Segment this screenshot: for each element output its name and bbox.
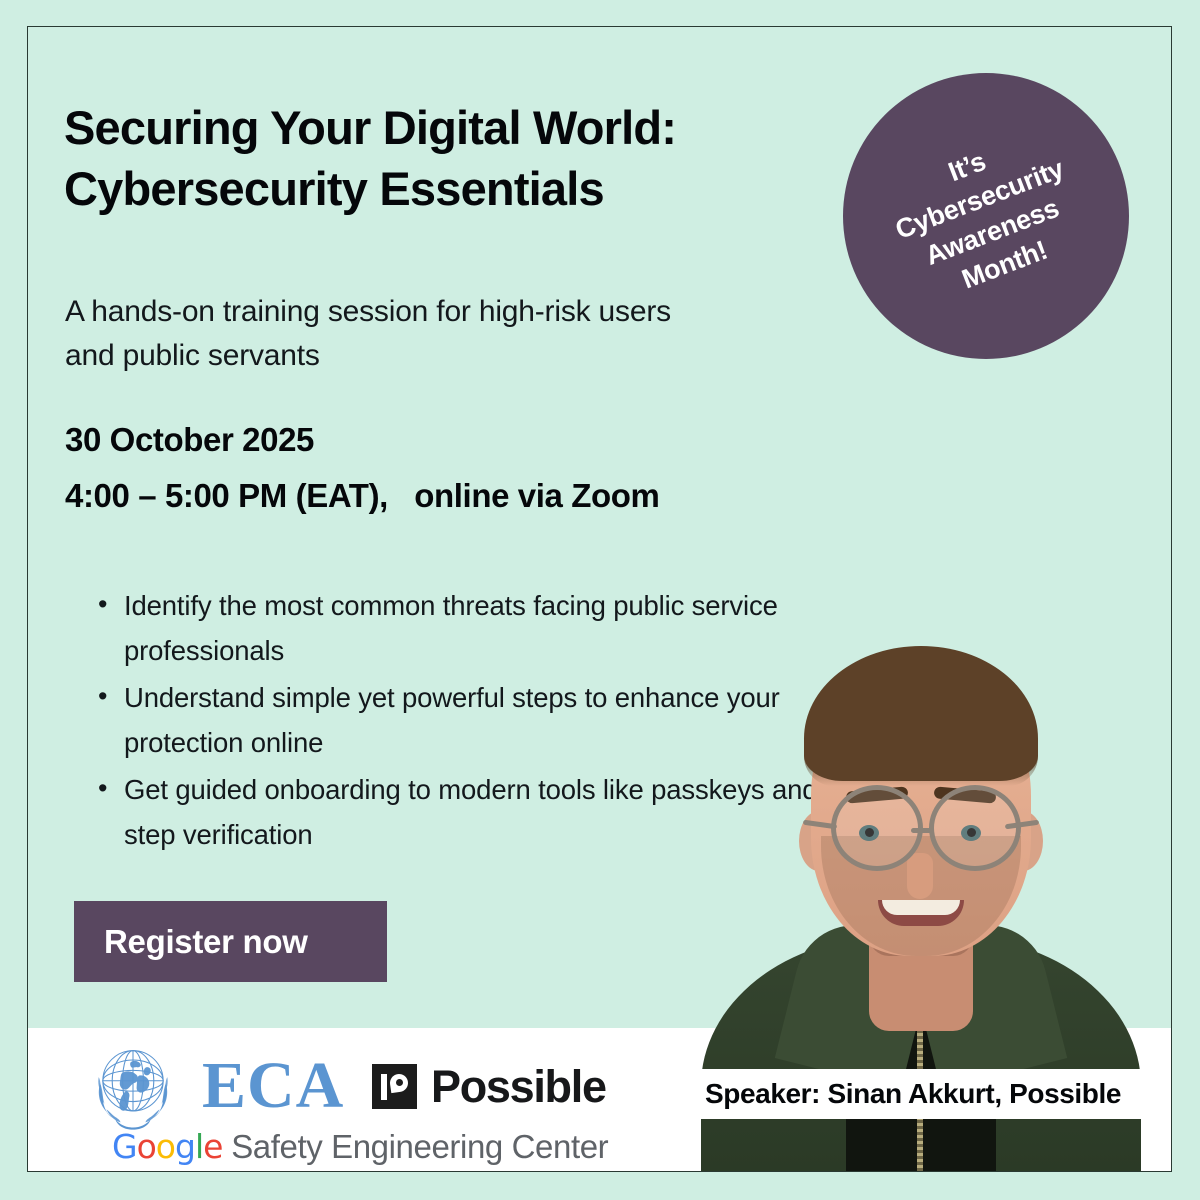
gsec-wordmark: Google Safety Engineering Center [112, 1130, 608, 1163]
headline-line-2: Cybersecurity Essentials [64, 159, 824, 219]
eyeglass-temple-right-shape [1005, 820, 1039, 830]
page-title: Securing Your Digital World: Cybersecuri… [64, 98, 824, 218]
google-g1: G [112, 1127, 137, 1166]
speaker-caption: Speaker: Sinan Akkurt, Possible [677, 1069, 1172, 1119]
headline-line-1: Securing Your Digital World: [64, 98, 824, 158]
mouth-shape [878, 900, 964, 926]
possible-mark-icon [372, 1064, 417, 1109]
poster-frame: Securing Your Digital World: Cybersecuri… [27, 26, 1172, 1172]
list-item: Get guided onboarding to modern tools li… [90, 768, 850, 857]
eca-wordmark: ECA [202, 1053, 344, 1119]
google-l: l [195, 1127, 203, 1166]
possible-logo: Possible [372, 1064, 606, 1109]
google-o1: o [137, 1127, 156, 1166]
google-g2: g [175, 1127, 195, 1166]
neck-shadow-shape [869, 901, 973, 956]
subtitle-line-1: A hands-on training session for high-ris… [65, 290, 835, 334]
register-button[interactable]: Register now [74, 901, 387, 982]
status-badge: It’s Cybersecurity Awareness Month! [843, 73, 1129, 359]
possible-mark-bar [381, 1074, 387, 1100]
subtitle-line-2: and public servants [65, 334, 835, 378]
learning-objectives-list: Identify the most common threats facing … [90, 584, 850, 860]
eyeglass-right-icon [929, 785, 1021, 871]
poster-canvas: Securing Your Digital World: Cybersecuri… [0, 0, 1200, 1200]
event-time-row: 4:00 – 5:00 PM (EAT), online via Zoom [65, 471, 865, 521]
possible-mark-dot [396, 1079, 403, 1086]
beard-shape [821, 836, 1021, 956]
ear-right-shape [1003, 811, 1043, 871]
eyebrow-left-shape [846, 786, 909, 803]
list-item: Understand simple yet powerful steps to … [90, 676, 850, 765]
event-datetime: 30 October 2025 4:00 – 5:00 PM (EAT), on… [65, 415, 865, 520]
footer-logos: ECA Possible Google Safety Engineering C… [54, 1027, 654, 1163]
list-item: Identify the most common threats facing … [90, 584, 850, 673]
event-channel: online via Zoom [414, 477, 659, 514]
neck-shape [869, 901, 973, 1031]
eyebrow-right-shape [934, 786, 997, 803]
teeth-shape [882, 900, 960, 915]
subtitle: A hands-on training session for high-ris… [65, 290, 835, 379]
google-e: e [203, 1127, 222, 1166]
eye-right-shape [961, 825, 981, 841]
possible-wordmark: Possible [431, 1064, 606, 1109]
gsec-rest: Safety Engineering Center [222, 1128, 608, 1165]
eyeglass-bridge-shape [911, 828, 933, 833]
eye-left-shape [859, 825, 879, 841]
google-o2: o [156, 1127, 175, 1166]
pupil-right-shape [967, 828, 976, 837]
badge-text: It’s Cybersecurity Awareness Month! [801, 31, 1170, 400]
pupil-left-shape [865, 828, 874, 837]
nose-shape [907, 853, 933, 899]
un-emblem-icon [80, 1035, 186, 1139]
event-date: 30 October 2025 [65, 415, 865, 465]
event-time: 4:00 – 5:00 PM (EAT), [65, 477, 388, 514]
